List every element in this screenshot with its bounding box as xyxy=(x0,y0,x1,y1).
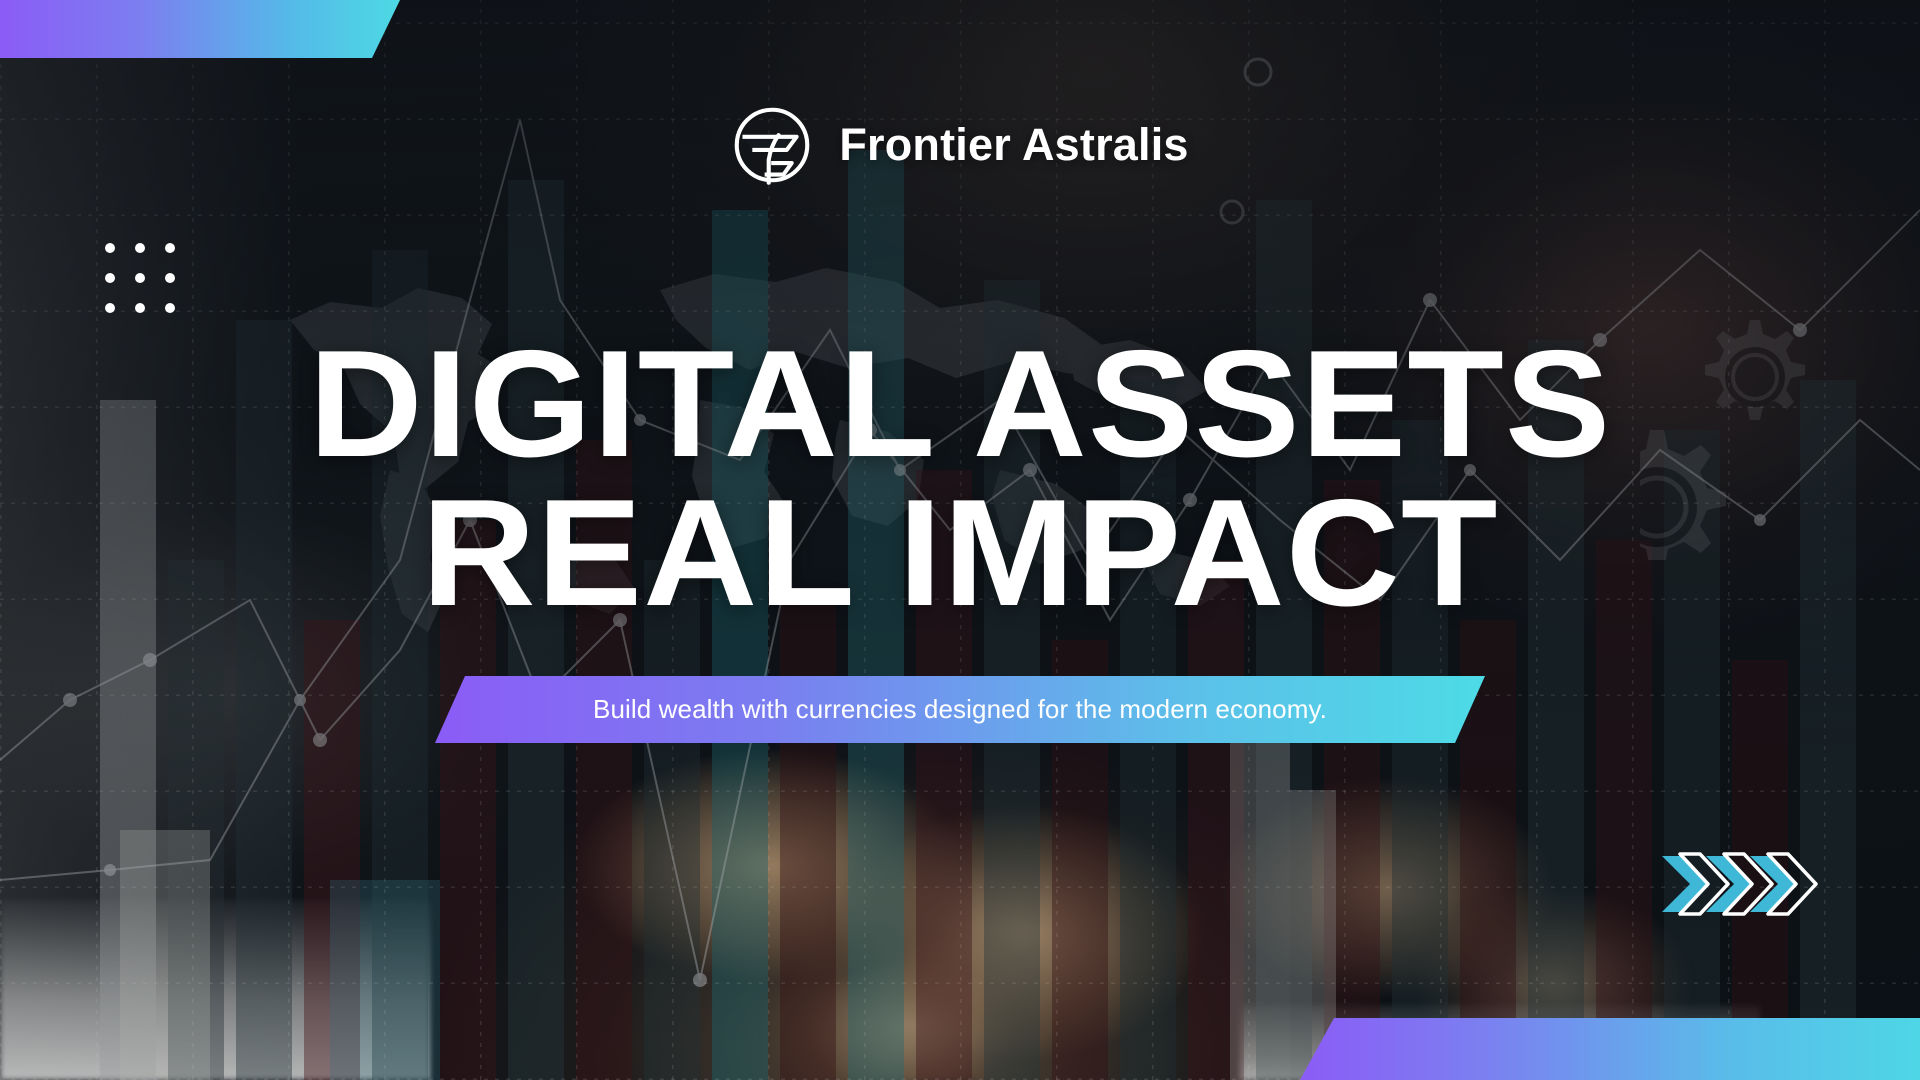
corner-accent-bottom-right xyxy=(1300,1018,1920,1080)
subtitle-ribbon: Build wealth with currencies designed fo… xyxy=(435,676,1485,743)
dot xyxy=(105,273,115,283)
promotional-banner: Frontier Astralis DIGITAL ASSETS REAL IM… xyxy=(0,0,1920,1080)
dot xyxy=(105,303,115,313)
dot xyxy=(135,243,145,253)
headline-line-1: DIGITAL ASSETS xyxy=(0,330,1920,479)
frontier-astralis-logo-icon xyxy=(731,104,813,186)
page-title: DIGITAL ASSETS REAL IMPACT xyxy=(0,330,1920,628)
dot xyxy=(165,243,175,253)
brand-name: Frontier Astralis xyxy=(839,119,1188,171)
brand-logo[interactable]: Frontier Astralis xyxy=(0,104,1920,186)
subtitle-text: Build wealth with currencies designed fo… xyxy=(435,676,1485,743)
dot xyxy=(105,243,115,253)
dot-grid-decoration xyxy=(105,243,175,313)
dot xyxy=(135,273,145,283)
headline-line-2: REAL IMPACT xyxy=(0,479,1920,628)
corner-accent-top-left xyxy=(0,0,400,58)
dot xyxy=(135,303,145,313)
dot xyxy=(165,303,175,313)
dot xyxy=(165,273,175,283)
chevron-arrows-decoration xyxy=(1660,848,1820,920)
